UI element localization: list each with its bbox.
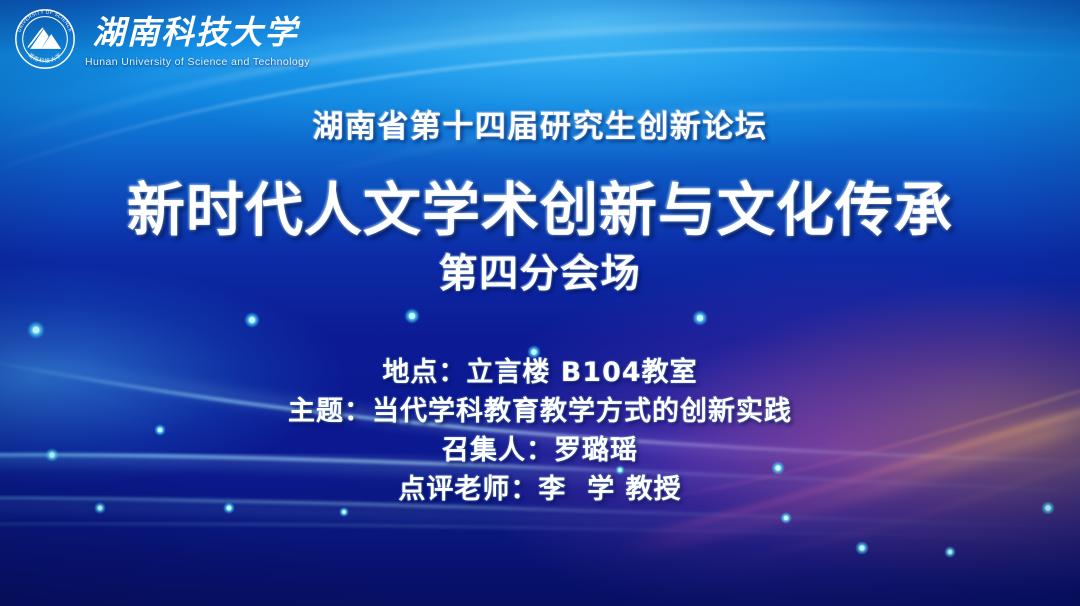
slide-subtitle: 第四分会场 [0, 243, 1080, 299]
detail-topic: 主题：当代学科教育教学方式的创新实践 [0, 392, 1080, 431]
detail-location: 地点：立言楼 B104教室 [0, 353, 1080, 392]
forum-kicker-title: 湖南省第十四届研究生创新论坛 [0, 101, 1080, 146]
presentation-slide: UNIVERSITY OF SCIENCE 湖南科技大学 湖南科技大学 Huna… [0, 0, 1080, 606]
session-details: 地点：立言楼 B104教室 主题：当代学科教育教学方式的创新实践 召集人：罗璐瑶… [0, 353, 1080, 509]
detail-commentator: 点评老师：李 学 教授 [0, 470, 1080, 509]
slide-content: 湖南省第十四届研究生创新论坛 新时代人文学术创新与文化传承 第四分会场 地点：立… [0, 0, 1080, 606]
slide-main-title: 新时代人文学术创新与文化传承 [0, 163, 1080, 247]
detail-convener: 召集人：罗璐瑶 [0, 431, 1080, 470]
